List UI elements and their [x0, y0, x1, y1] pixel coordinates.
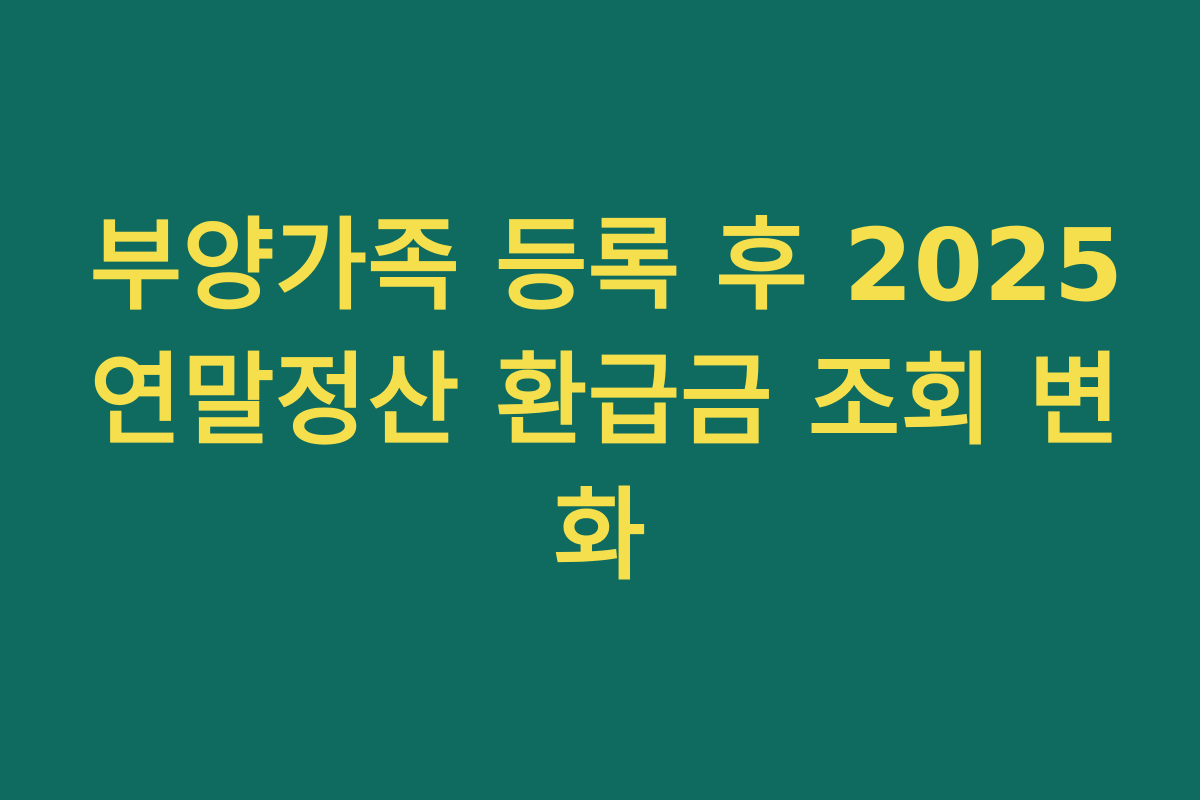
headline-line-1: 부양가족 등록 후 2025	[90, 198, 1110, 333]
headline-line-2: 연말정산 환급금 조회 변	[90, 333, 1110, 468]
page-title: 부양가족 등록 후 2025 연말정산 환급금 조회 변 화	[90, 198, 1110, 603]
thumbnail-card: 부양가족 등록 후 2025 연말정산 환급금 조회 변 화	[0, 0, 1200, 800]
headline-line-3: 화	[90, 468, 1110, 603]
title-block: 부양가족 등록 후 2025 연말정산 환급금 조회 변 화	[80, 198, 1120, 603]
